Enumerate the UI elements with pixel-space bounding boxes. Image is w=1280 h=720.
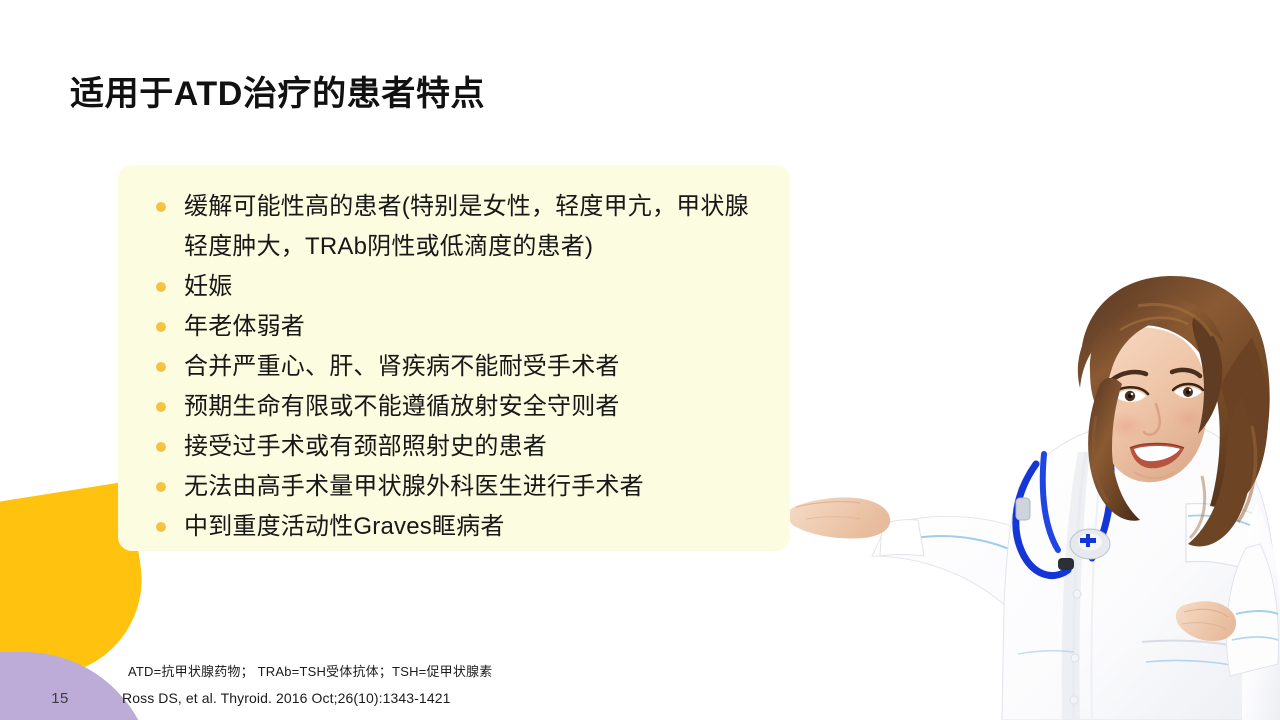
abbreviation-footnote: ATD=抗甲状腺药物； TRAb=TSH受体抗体；TSH=促甲状腺素 [128, 661, 492, 680]
list-item: 中到重度活动性Graves眶病者 [140, 507, 764, 547]
list-item: 年老体弱者 [140, 307, 764, 347]
slide-canvas: 15 适用于ATD治疗的患者特点 缓解可能性高的患者(特别是女性，轻度甲亢，甲状… [0, 0, 1280, 720]
page-title: 适用于ATD治疗的患者特点 [70, 66, 485, 115]
list-item: 合并严重心、肝、肾疾病不能耐受手术者 [140, 347, 764, 387]
citation-footnote: Ross DS, et al. Thyroid. 2016 Oct;26(10)… [122, 690, 450, 706]
bullet-list: 缓解可能性高的患者(特别是女性，轻度甲亢，甲状腺轻度肿大，TRAb阴性或低滴度的… [140, 187, 764, 547]
list-item: 接受过手术或有颈部照射史的患者 [140, 427, 764, 467]
list-item: 无法由高手术量甲状腺外科医生进行手术者 [140, 467, 764, 507]
doctor-photo [790, 276, 1280, 720]
list-item: 预期生命有限或不能遵循放射安全守则者 [140, 387, 764, 427]
content-card: 缓解可能性高的患者(特别是女性，轻度甲亢，甲状腺轻度肿大，TRAb阴性或低滴度的… [118, 165, 790, 551]
list-item: 缓解可能性高的患者(特别是女性，轻度甲亢，甲状腺轻度肿大，TRAb阴性或低滴度的… [140, 187, 764, 267]
list-item: 妊娠 [140, 267, 764, 307]
slide-number: 15 [44, 690, 76, 707]
